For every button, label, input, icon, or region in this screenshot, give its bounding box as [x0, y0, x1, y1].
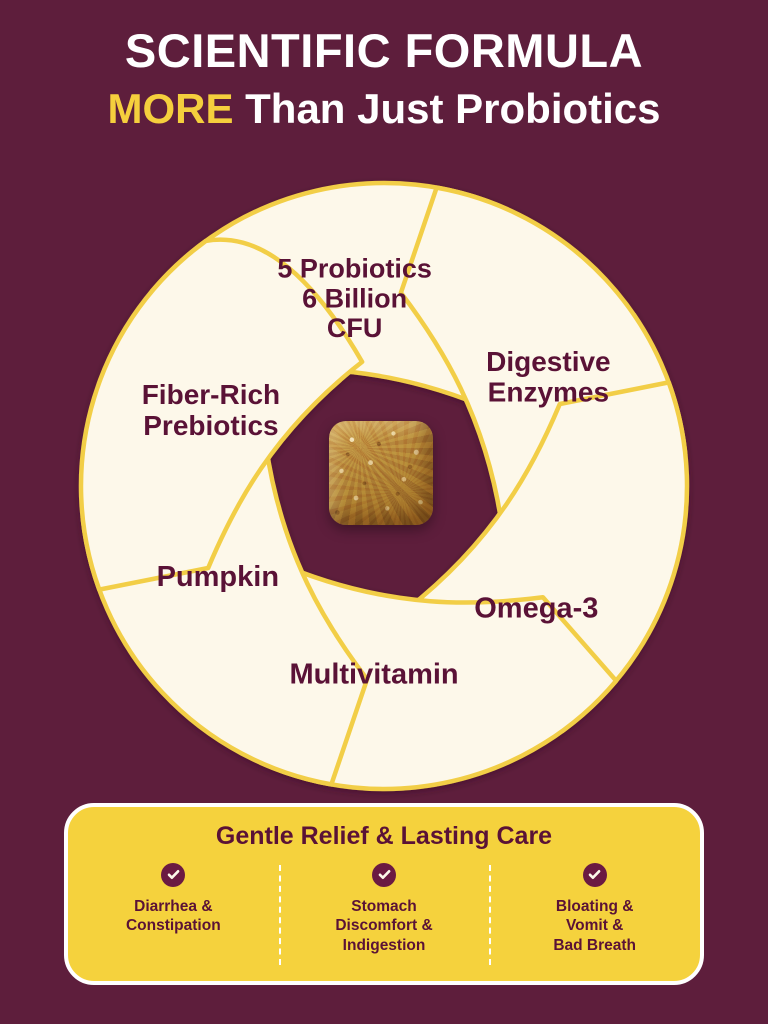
benefit-text-2: Stomach Discomfort & Indigestion: [335, 897, 432, 956]
benefits-card: Gentle Relief & Lasting Care Diarrhea & …: [64, 803, 704, 985]
headline-primary: SCIENTIFIC FORMULA: [0, 26, 768, 76]
headline-highlight-more: MORE: [107, 85, 233, 132]
check-circle-icon: [372, 863, 396, 887]
benefit-text-1: Diarrhea & Constipation: [126, 897, 221, 936]
dog-kibble-treat-icon: [329, 421, 433, 525]
benefit-column-3: Bloating & Vomit & Bad Breath: [489, 863, 700, 975]
headline-secondary: MORE Than Just Probiotics: [0, 84, 768, 134]
petal-label-pumpkin: Pumpkin: [157, 561, 279, 593]
infographic-poster: SCIENTIFIC FORMULA MORE Than Just Probio…: [0, 0, 768, 1024]
headline-secondary-rest: Than Just Probiotics: [233, 85, 660, 132]
petal-label-omega-3: Omega-3: [474, 592, 598, 624]
check-circle-icon: [161, 863, 185, 887]
benefit-column-1: Diarrhea & Constipation: [68, 863, 279, 975]
petal-label-fiber-rich-prebiotics: Fiber-RichPrebiotics: [142, 380, 280, 442]
petal-label-digestive-enzymes: DigestiveEnzymes: [486, 346, 611, 408]
petal-label-multivitamin: Multivitamin: [289, 658, 458, 690]
benefit-column-2: Stomach Discomfort & Indigestion: [279, 863, 490, 975]
benefits-row: Diarrhea & ConstipationStomach Discomfor…: [68, 863, 700, 975]
check-circle-icon: [583, 863, 607, 887]
benefit-text-3: Bloating & Vomit & Bad Breath: [553, 897, 636, 956]
poster-heading: SCIENTIFIC FORMULA MORE Than Just Probio…: [0, 26, 768, 133]
benefits-card-heading: Gentle Relief & Lasting Care: [68, 823, 700, 851]
